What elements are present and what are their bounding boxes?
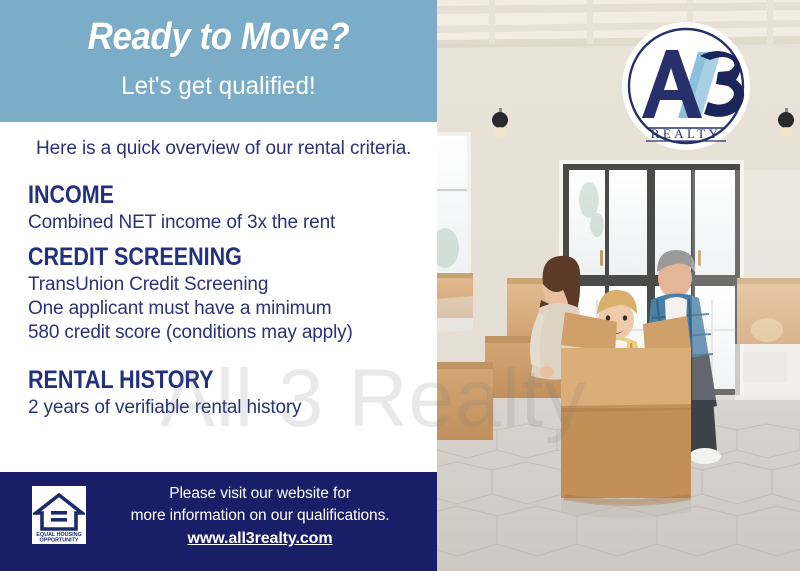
all3-realty-logo: REALTY [622, 22, 750, 150]
credit-line-2: One applicant must have a minimum [28, 297, 353, 321]
website-link[interactable]: www.all3realty.com [188, 528, 333, 551]
footer-line-2: more information on our qualifications. [95, 505, 425, 527]
flyer-canvas: REALTY Ready to Move? Let's get qualifie… [0, 0, 800, 571]
income-heading: INCOME [28, 182, 292, 210]
criteria-section-rental: RENTAL HISTORY 2 years of verifiable ren… [28, 367, 301, 420]
footer-message: Please visit our website for more inform… [95, 483, 425, 551]
credit-line-3: 580 credit score (conditions may apply) [28, 321, 353, 345]
criteria-body: Here is a quick overview of our rental c… [0, 122, 437, 472]
credit-line-1: TransUnion Credit Screening [28, 273, 353, 297]
footer-line-1: Please visit our website for [95, 483, 425, 505]
criteria-section-income: INCOME Combined NET income of 3x the ren… [28, 182, 335, 235]
hero-photo-illustration: REALTY [437, 0, 800, 571]
hero-photo: REALTY [437, 0, 800, 571]
subheadline: Let's get qualified! [9, 72, 429, 101]
svg-text:REALTY: REALTY [651, 126, 721, 141]
headline: Ready to Move? [17, 18, 419, 58]
credit-heading: CREDIT SCREENING [28, 244, 307, 272]
svg-text:OPPORTUNITY: OPPORTUNITY [40, 538, 79, 544]
rental-heading: RENTAL HISTORY [28, 367, 263, 395]
rental-line-1: 2 years of verifiable rental history [28, 396, 301, 420]
equal-housing-opportunity-icon: EQUAL HOUSING OPPORTUNITY [32, 486, 86, 544]
intro-text: Here is a quick overview of our rental c… [36, 138, 411, 160]
income-line-1: Combined NET income of 3x the rent [28, 211, 335, 235]
criteria-section-credit: CREDIT SCREENING TransUnion Credit Scree… [28, 244, 353, 345]
footer-bar: EQUAL HOUSING OPPORTUNITY Please visit o… [0, 472, 437, 571]
